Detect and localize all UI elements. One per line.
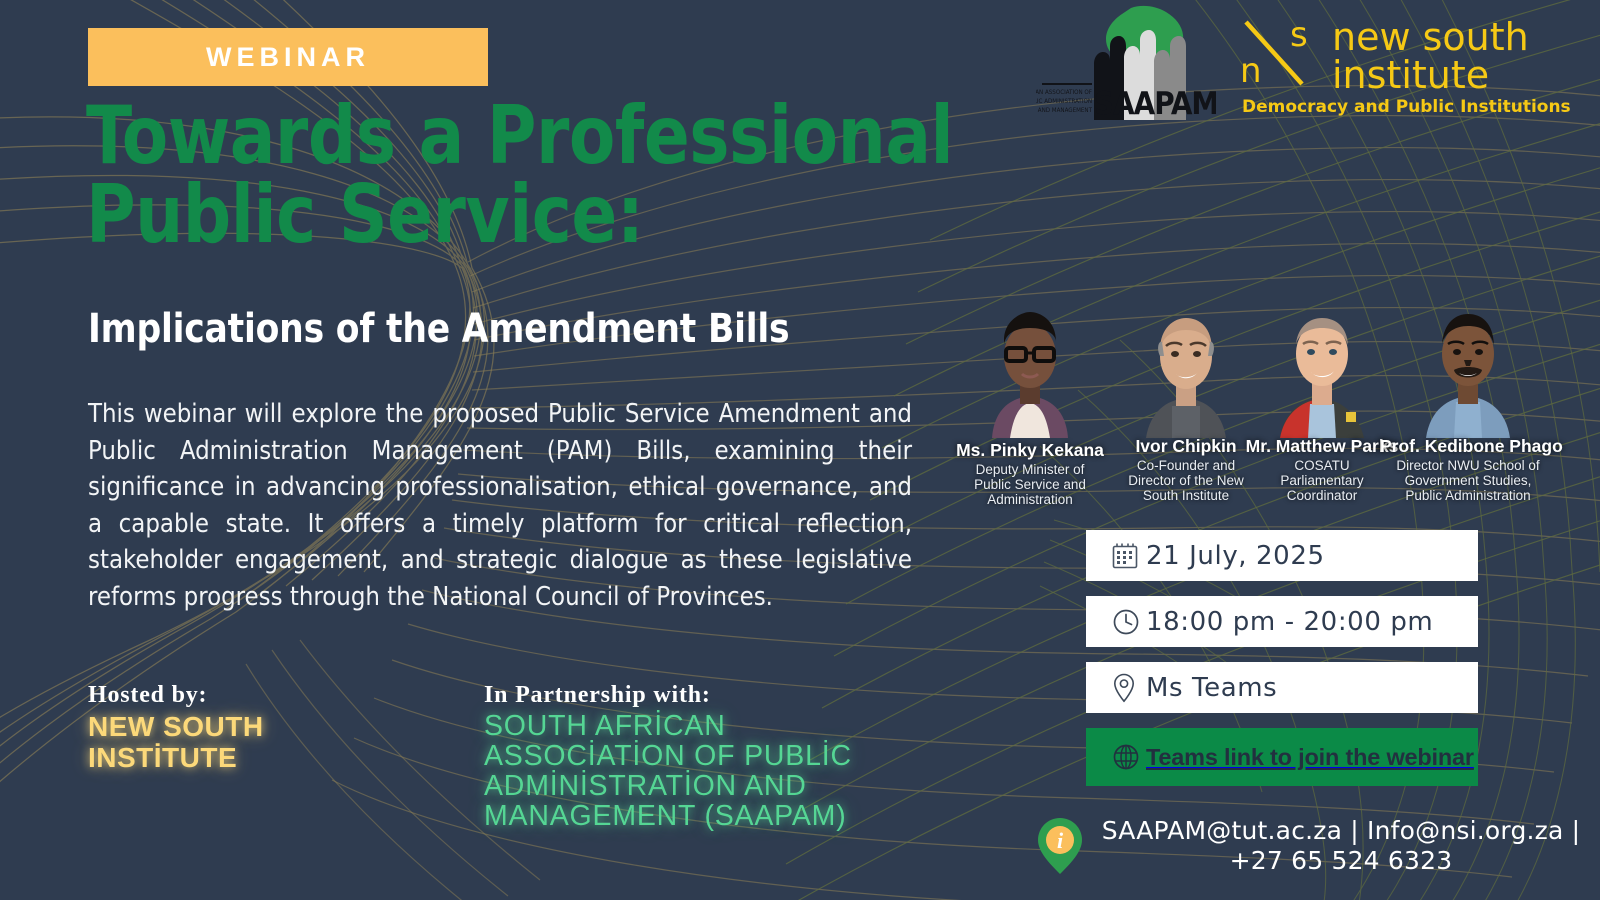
webinar-badge-label: WEBINAR (206, 42, 370, 73)
speaker-portrait (970, 300, 1090, 438)
contact-phone: +27 65 524 6323 (1092, 846, 1590, 876)
speaker-role-line: Director NWU School of (1382, 458, 1554, 473)
speaker-name: Ms. Pinky Kekana (942, 440, 1118, 461)
speaker-portrait (1408, 300, 1528, 438)
speakers-row: Ms. Pinky Kekana Deputy Minister of Publ… (952, 300, 1576, 500)
speaker-role-line: Administration (944, 492, 1116, 507)
contact-block: i SAAPAM@tut.ac.za | Info@nsi.org.za | +… (1030, 816, 1590, 883)
event-time-value: 18:00 pm - 20:00 pm (1146, 607, 1433, 637)
saapam-tagline-line-3: AND MANAGEMENT (1038, 107, 1093, 114)
contact-emails: SAAPAM@tut.ac.za | Info@nsi.org.za | (1092, 816, 1590, 846)
saapam-tagline-line-1: SOUTH AFRICAN ASSOCIATION OF (1036, 89, 1092, 96)
speaker-role: Director NWU School of Government Studie… (1382, 458, 1554, 503)
event-venue-row: Ms Teams (1086, 662, 1478, 713)
host-name: NEW SOUTH INSTİTUTE (88, 711, 264, 773)
speaker-name: Prof. Kedibone Phago (1380, 436, 1556, 457)
event-date-value: 21 July, 2025 (1146, 541, 1325, 571)
partnership-label: In Partnership with: (484, 682, 852, 709)
calendar-icon (1112, 542, 1146, 570)
host-name-line-1: NEW SOUTH (88, 711, 264, 742)
speaker-portrait (1126, 300, 1246, 438)
event-venue-value: Ms Teams (1146, 673, 1277, 703)
saapam-logo: SAAPAM SOUTH AFRICAN ASSOCIATION OF PUBL… (1036, 2, 1216, 120)
hosted-by-label: Hosted by: (88, 682, 264, 709)
nsi-tagline: Democracy and Public Institutions (1242, 97, 1571, 117)
speaker-role-line: Public Service and (944, 477, 1116, 492)
contact-lines: SAAPAM@tut.ac.za | Info@nsi.org.za | +27… (1092, 816, 1590, 876)
nsi-mark-n: n (1240, 51, 1262, 91)
speaker-role-line: Government Studies, (1382, 473, 1554, 488)
teams-join-link-label: Teams link to join the webinar (1146, 744, 1474, 771)
host-name-line-2: INSTİTUTE (88, 742, 264, 773)
new-south-institute-logo: s n new south institute Democracy and Pu… (1232, 6, 1572, 118)
page-title: Towards a Professional Public Service: (86, 96, 1026, 254)
teams-join-link[interactable]: Teams link to join the webinar (1086, 728, 1478, 786)
event-details: 21 July, 2025 18:00 pm - 20:00 pm Ms Tea… (1086, 530, 1478, 786)
speaker-role: Deputy Minister of Public Service and Ad… (944, 462, 1116, 507)
webinar-poster: WEBINAR Towards a Professional Public Se… (0, 0, 1600, 900)
hosted-by-block: Hosted by: NEW SOUTH INSTİTUTE (88, 682, 264, 773)
speaker-role-line: Deputy Minister of (944, 462, 1116, 477)
partner-name-line-2: ASSOCİATİON OF PUBLİC (484, 741, 852, 771)
page-subtitle: Implications of the Amendment Bills (88, 306, 789, 352)
globe-icon (1112, 743, 1146, 771)
description-paragraph: This webinar will explore the proposed P… (88, 396, 912, 615)
speaker-portrait (1262, 300, 1382, 438)
saapam-tagline-line-2: PUBLIC ADMINISTRATION (1036, 98, 1092, 105)
speaker-role-line: Public Administration (1382, 488, 1554, 503)
partnership-block: In Partnership with: SOUTH AFRİCAN ASSOC… (484, 682, 852, 831)
webinar-badge: WEBINAR (88, 28, 488, 86)
nsi-mark-s: s (1290, 15, 1308, 55)
partner-name-line-1: SOUTH AFRİCAN (484, 711, 852, 741)
info-pin-icon: i (1030, 814, 1092, 883)
svg-text:i: i (1057, 828, 1064, 853)
nsi-wordmark-line-2: institute (1332, 53, 1489, 97)
event-date-row: 21 July, 2025 (1086, 530, 1478, 581)
event-time-row: 18:00 pm - 20:00 pm (1086, 596, 1478, 647)
clock-icon (1112, 608, 1146, 636)
partner-name-line-4: MANAGEMENT (SAAPAM) (484, 801, 852, 831)
partner-name: SOUTH AFRİCAN ASSOCİATİON OF PUBLİC ADMİ… (484, 711, 852, 831)
saapam-wordmark: SAAPAM (1094, 86, 1216, 120)
page-title-line-2: Public Service: (86, 175, 1026, 254)
location-pin-icon (1112, 673, 1146, 703)
partner-name-line-3: ADMİNİSTRATİON AND (484, 771, 852, 801)
